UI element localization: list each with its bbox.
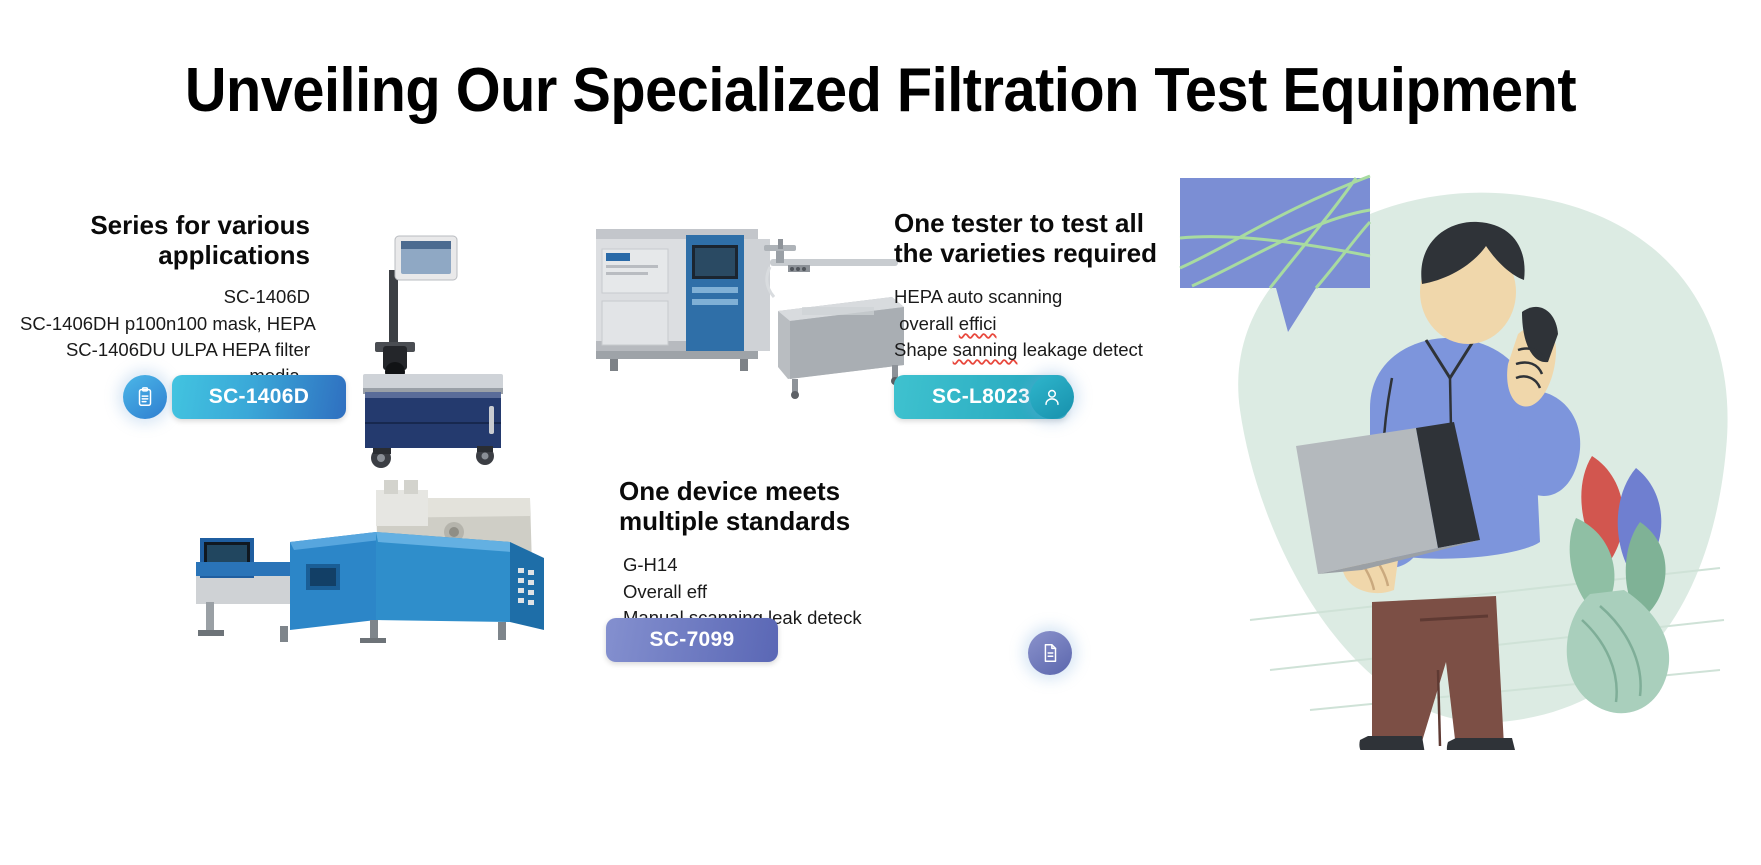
misspelled-word-effici: effici bbox=[959, 313, 997, 334]
block-heading: One device meets multiple standards bbox=[619, 476, 919, 536]
slide-canvas: Unveiling Our Specialized Filtration Tes… bbox=[0, 0, 1761, 865]
badge-sc-1406d[interactable]: SC-1406D bbox=[172, 375, 346, 419]
badge-sc-7099[interactable]: SC-7099 bbox=[606, 618, 778, 662]
page-title: Unveiling Our Specialized Filtration Tes… bbox=[62, 55, 1700, 126]
user-icon[interactable] bbox=[1030, 375, 1074, 419]
block-one-device: One device meets multiple standards G-H1… bbox=[619, 476, 919, 631]
person-with-laptop-and-phone-illustration bbox=[1120, 150, 1740, 750]
shoe-left bbox=[1359, 736, 1426, 750]
block-heading: Series for various applications bbox=[20, 210, 310, 270]
clipboard-icon[interactable] bbox=[123, 375, 167, 419]
block-body: SC-1406D SC-1406DH p100n100 mask, HEPA S… bbox=[20, 284, 310, 389]
filtration-test-cabinet-photo bbox=[345, 222, 515, 470]
hepa-scanning-machine-photo bbox=[592, 215, 912, 400]
laptop-lid bbox=[1296, 428, 1438, 574]
filter-test-bench-photo bbox=[180, 480, 545, 645]
document-icon[interactable] bbox=[1028, 631, 1072, 675]
misspelled-word-sanning: sanning bbox=[953, 339, 1018, 360]
shoe-right bbox=[1447, 738, 1518, 750]
block-series-applications: Series for various applications SC-1406D… bbox=[20, 210, 310, 389]
